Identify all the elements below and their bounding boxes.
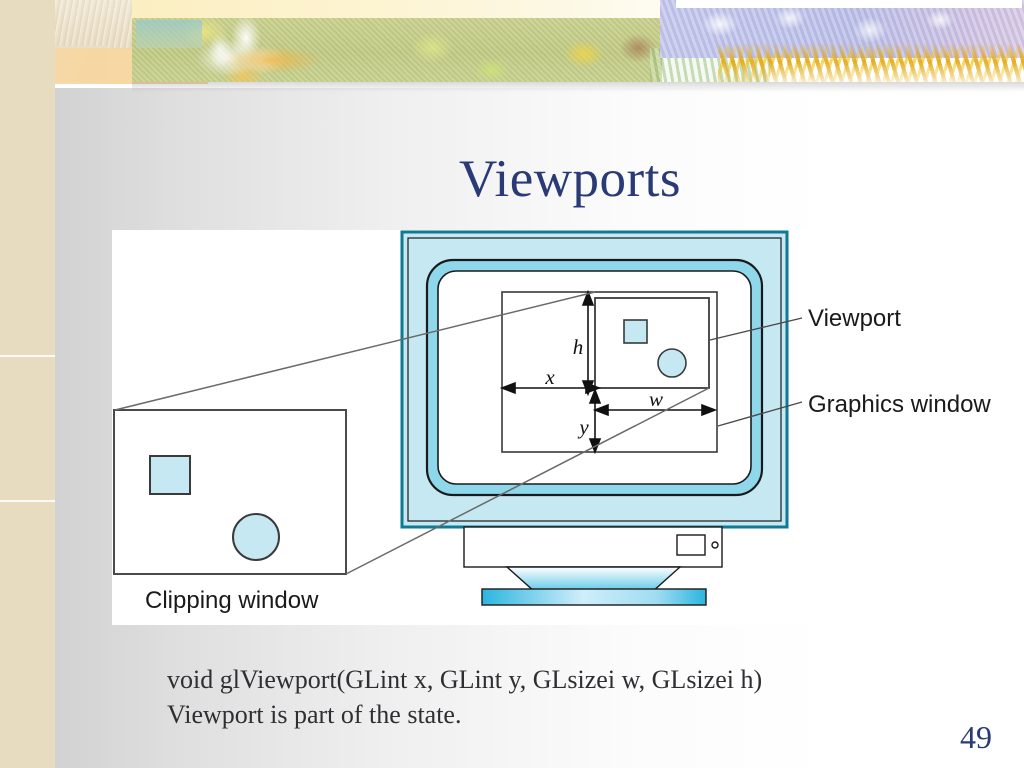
viewport-label: Viewport (808, 305, 901, 332)
caption-block: void glViewport(GLint x, GLint y, GLsize… (167, 663, 927, 732)
viewport-circle-shape (658, 349, 686, 377)
monitor-indicator-led (712, 542, 718, 548)
band-rule (0, 355, 55, 357)
dimension-label-x: x (544, 365, 555, 389)
clipping-window-rect (114, 410, 346, 574)
caption-line-2: Viewport is part of the state. (167, 698, 927, 733)
monitor-neck (507, 567, 680, 592)
left-textured-band (0, 0, 55, 768)
banner-wheat-sprigs (718, 44, 1024, 82)
banner-lavender-top-edge (676, 0, 1022, 8)
monitor-power-button[interactable] (677, 535, 705, 555)
monitor-base (482, 589, 706, 605)
banner-shadow (132, 82, 1024, 92)
page-number: 49 (960, 719, 992, 756)
slide-root: Viewports (0, 0, 1024, 768)
banner-gold-leaf (212, 44, 362, 84)
viewport-square-shape (624, 320, 647, 343)
graphics-window-label: Graphics window (808, 391, 991, 418)
clipping-circle-shape (233, 514, 279, 560)
dimension-label-y: y (577, 415, 589, 439)
banner-teal-block (136, 20, 202, 48)
clipping-square-shape (150, 456, 190, 494)
dimension-label-w: w (649, 387, 663, 411)
page-title: Viewports (150, 150, 990, 208)
viewport-diagram: h x w y Clipping window (112, 230, 1012, 625)
dimension-label-h: h (573, 335, 584, 359)
clipping-window-label: Clipping window (145, 587, 319, 614)
viewport-rect (595, 298, 709, 388)
band-rule (0, 500, 55, 502)
caption-line-1: void glViewport(GLint x, GLint y, GLsize… (167, 663, 927, 698)
decorative-banner (0, 0, 1024, 92)
